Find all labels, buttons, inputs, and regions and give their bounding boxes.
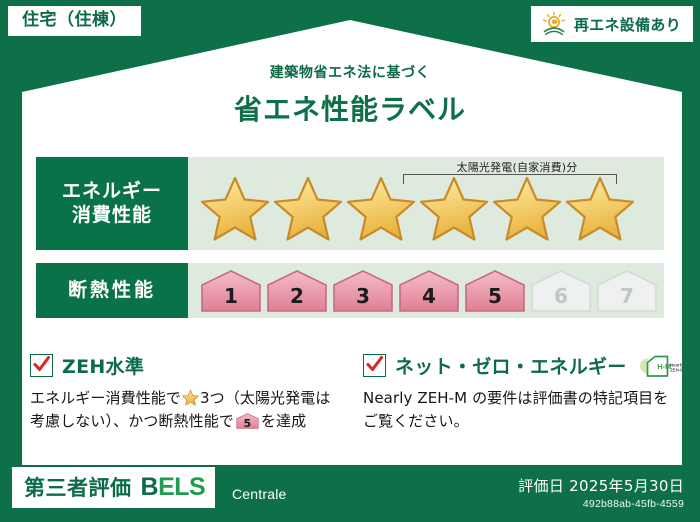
net-zero-energy-title: ネット・ゼロ・エネルギー bbox=[395, 352, 627, 379]
net-zero-energy-section: ネット・ゼロ・エネルギー H-M Nearly ZEH-M Nearly ZEH… bbox=[363, 352, 670, 434]
nearly-zeh-m-logo: H-M Nearly ZEH-M bbox=[638, 353, 684, 379]
insulation-grade-badge: 5 bbox=[464, 269, 526, 313]
insulation-grade-badge: 1 bbox=[200, 269, 262, 313]
inline-star-icon bbox=[182, 389, 199, 406]
insulation-grade-value: 3 bbox=[356, 286, 370, 313]
bels-logo-b: B bbox=[141, 473, 159, 501]
star-icon bbox=[273, 174, 343, 242]
insulation-grade-badge: 2 bbox=[266, 269, 328, 313]
insulation-grade-value: 2 bbox=[290, 286, 304, 313]
insulation-grade-badge: 3 bbox=[332, 269, 394, 313]
insulation-grade-value: 6 bbox=[554, 286, 568, 313]
energy-performance-row: エネルギー 消費性能 太陽光発電(自家消費)分 bbox=[36, 157, 664, 250]
zeh-standard-section: ZEH水準 エネルギー消費性能で3つ（太陽光発電は考慮しない）、かつ断熱性能で5… bbox=[30, 352, 337, 434]
insulation-row-value: 1 2 3 bbox=[188, 263, 664, 318]
energy-row-label-line1: エネルギー bbox=[62, 180, 162, 204]
evaluation-info: 評価日 2025年5月30日 492b88ab-45fb-4559 bbox=[518, 477, 684, 510]
criteria-sections: ZEH水準 エネルギー消費性能で3つ（太陽光発電は考慮しない）、かつ断熱性能で5… bbox=[30, 352, 670, 434]
renewable-badge: 再エネ設備あり bbox=[531, 6, 693, 42]
checkbox-checked-icon bbox=[363, 354, 386, 377]
checkbox-checked-icon bbox=[30, 354, 53, 377]
zeh-body-part3: を達成 bbox=[261, 412, 306, 430]
category-tag: 住宅（住棟） bbox=[8, 6, 141, 36]
solar-annotation-label: 太陽光発電(自家消費)分 bbox=[402, 159, 632, 175]
energy-row-label-line2: 消費性能 bbox=[72, 204, 152, 228]
insulation-row-label-text: 断熱性能 bbox=[68, 279, 156, 303]
insulation-grade-value: 7 bbox=[620, 286, 634, 313]
performance-rows: エネルギー 消費性能 太陽光発電(自家消費)分 bbox=[36, 157, 664, 331]
insulation-performance-row: 断熱性能 1 bbox=[36, 263, 664, 318]
title-main: 省エネ性能ラベル bbox=[0, 88, 700, 128]
svg-text:ZEH-M: ZEH-M bbox=[670, 367, 684, 372]
title-subtitle: 建築物省エネ法に基づく bbox=[0, 62, 700, 82]
energy-row-value: 太陽光発電(自家消費)分 bbox=[188, 157, 664, 250]
zeh-standard-header: ZEH水準 bbox=[30, 352, 337, 379]
zeh-body-part1: エネルギー消費性能で bbox=[30, 389, 181, 407]
insulation-grade-value: 1 bbox=[224, 286, 238, 313]
bels-energy-label: 住宅（住棟） 再エネ設備あり 建築物省エネ法に基づく 省エネ性能ラベル エネ bbox=[0, 0, 700, 522]
bels-certification-badge: 第三者評価 BELS bbox=[12, 467, 215, 508]
renewable-badge-label: 再エネ設備あり bbox=[574, 14, 681, 35]
star-icon bbox=[200, 174, 270, 242]
insulation-grade-scale: 1 2 3 bbox=[188, 269, 658, 313]
net-zero-energy-body: Nearly ZEH-M の要件は評価書の特記項目をご覧ください。 bbox=[363, 387, 670, 434]
insulation-grade-value: 4 bbox=[422, 286, 436, 313]
zeh-standard-body: エネルギー消費性能で3つ（太陽光発電は考慮しない）、かつ断熱性能で5を達成 bbox=[30, 387, 337, 434]
insulation-grade-badge: 4 bbox=[398, 269, 460, 313]
insulation-grade-badge: 6 bbox=[530, 269, 592, 313]
bels-logo-text: BELS bbox=[141, 473, 206, 502]
title-block: 建築物省エネ法に基づく 省エネ性能ラベル bbox=[0, 62, 700, 128]
evaluation-date: 評価日 2025年5月30日 bbox=[518, 477, 684, 495]
footer-bar: 第三者評価 BELS Centrale 評価日 2025年5月30日 492b8… bbox=[0, 464, 700, 522]
solar-sun-icon bbox=[541, 11, 567, 37]
inline-grade-value: 5 bbox=[236, 418, 259, 429]
third-party-eval-label: 第三者評価 bbox=[24, 472, 132, 502]
checkmark-icon bbox=[365, 355, 384, 374]
zeh-standard-title: ZEH水準 bbox=[62, 352, 144, 379]
inline-house-badge-icon: 5 bbox=[236, 412, 259, 430]
solar-annotation-bracket bbox=[403, 174, 617, 184]
insulation-row-label: 断熱性能 bbox=[36, 263, 188, 318]
net-zero-energy-header: ネット・ゼロ・エネルギー H-M Nearly ZEH-M bbox=[363, 352, 670, 379]
energy-row-label: エネルギー 消費性能 bbox=[36, 157, 188, 250]
insulation-grade-badge: 7 bbox=[596, 269, 658, 313]
organization-name: Centrale bbox=[232, 486, 287, 502]
bels-logo-els: ELS bbox=[158, 473, 205, 501]
evaluation-id: 492b88ab-45fb-4559 bbox=[518, 498, 684, 510]
insulation-grade-value: 5 bbox=[488, 286, 502, 313]
checkmark-icon bbox=[32, 355, 51, 374]
